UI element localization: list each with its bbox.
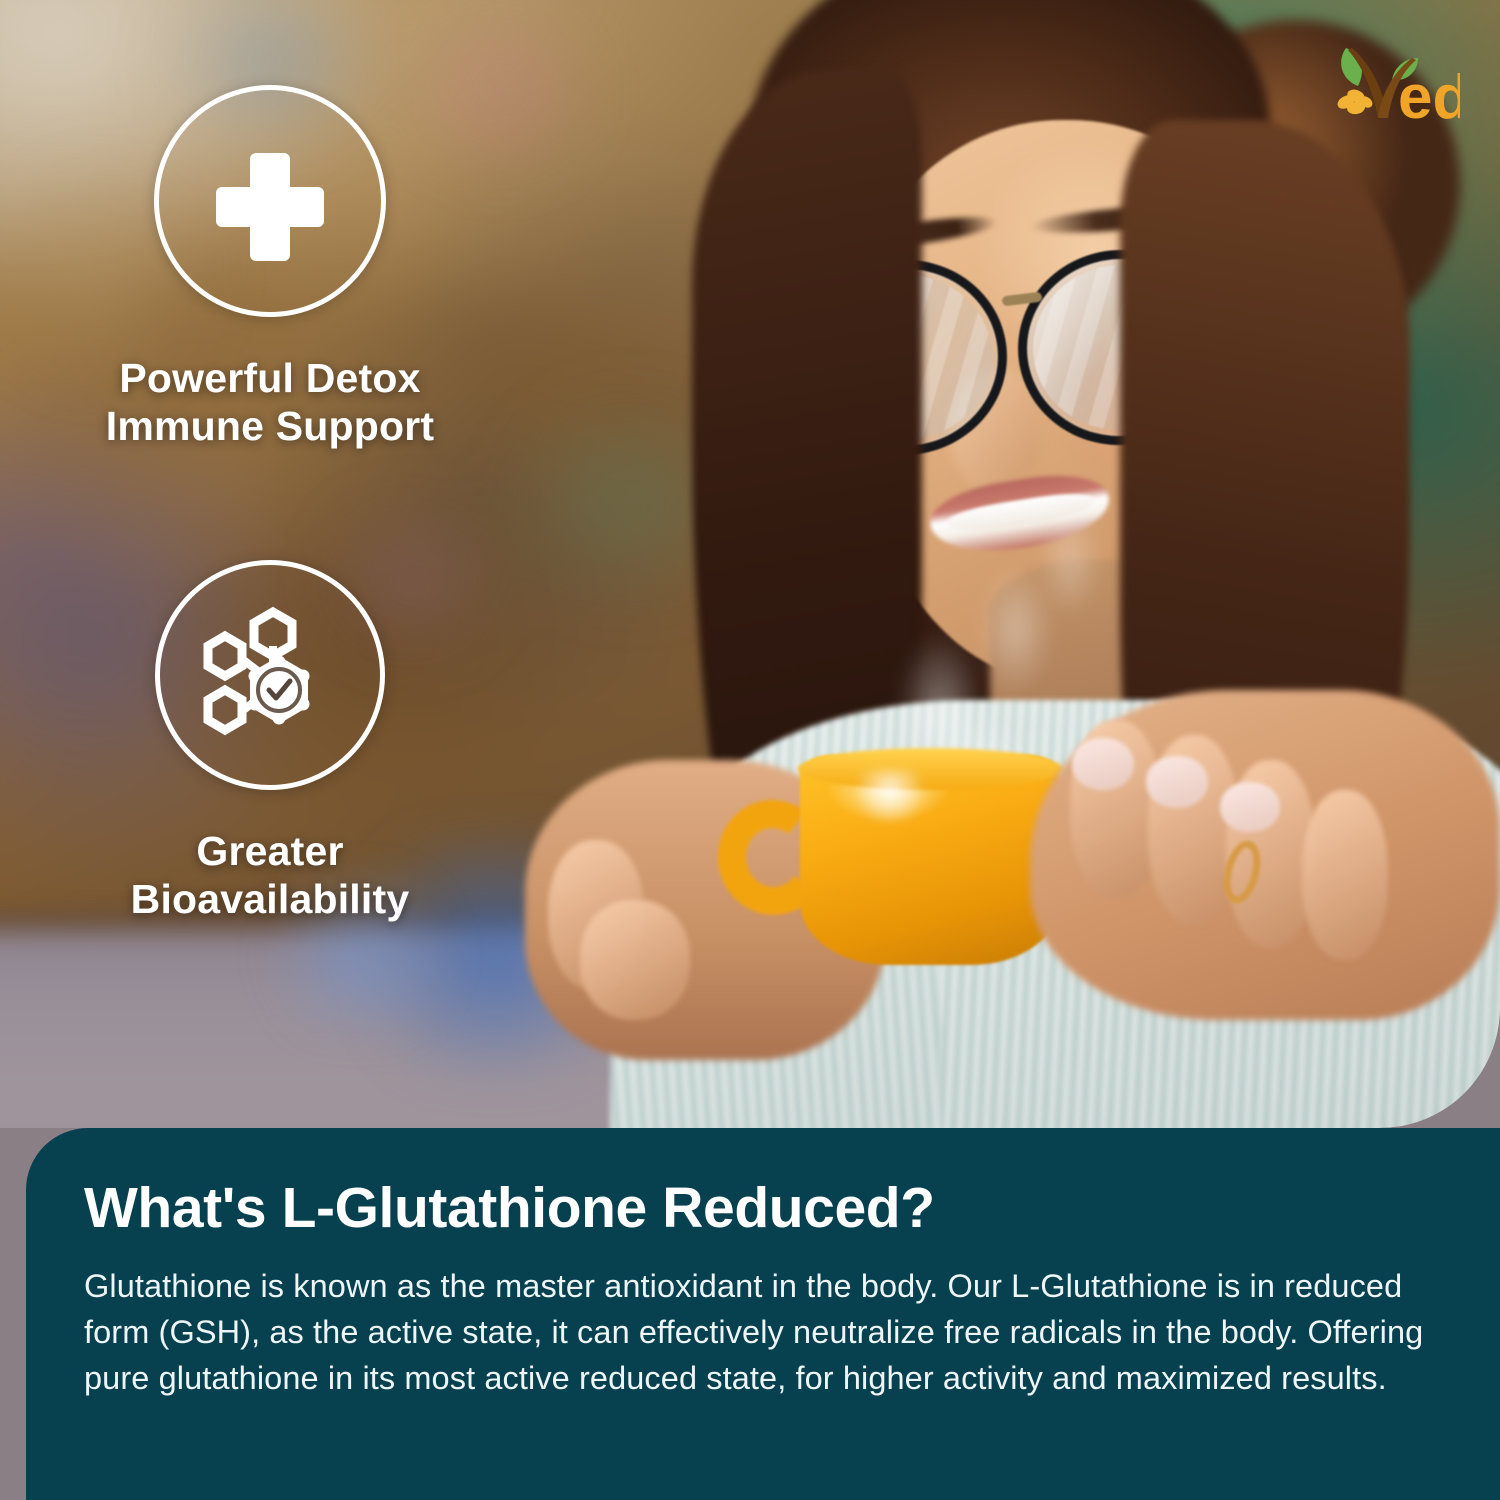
hero-photo: Powerful Detox Immune Support <box>0 0 1500 1128</box>
mug-highlight <box>850 770 930 822</box>
molecule-check-icon <box>195 600 345 750</box>
feature-badge-circle <box>154 85 386 317</box>
info-body-text: Glutathione is known as the master antio… <box>84 1263 1436 1401</box>
feature-greater-bioavailability: Greater Bioavailability <box>60 560 480 923</box>
svg-text:ed: ed <box>1398 63 1460 128</box>
mug-rim <box>798 748 1063 790</box>
feature-label: Greater Bioavailability <box>60 828 480 923</box>
woman-subject <box>430 0 1500 1128</box>
info-panel: What's L-Glutathione Reduced? Glutathion… <box>26 1128 1500 1500</box>
brand-logo[interactable]: ed <box>1330 30 1460 130</box>
fingernail <box>1220 782 1280 832</box>
feature-badge-circle <box>155 560 385 790</box>
finger <box>1302 790 1388 960</box>
fingernail <box>1146 756 1208 808</box>
medical-plus-icon <box>210 141 330 261</box>
ved-logo-icon: ed <box>1332 32 1460 128</box>
finger <box>580 900 690 1020</box>
feature-powerful-detox: Powerful Detox Immune Support <box>60 85 480 450</box>
feature-label: Powerful Detox Immune Support <box>60 355 480 450</box>
product-infographic-page: Powerful Detox Immune Support <box>0 0 1500 1500</box>
page-title: What's L-Glutathione Reduced? <box>84 1180 1436 1237</box>
fingernail <box>1072 738 1134 790</box>
